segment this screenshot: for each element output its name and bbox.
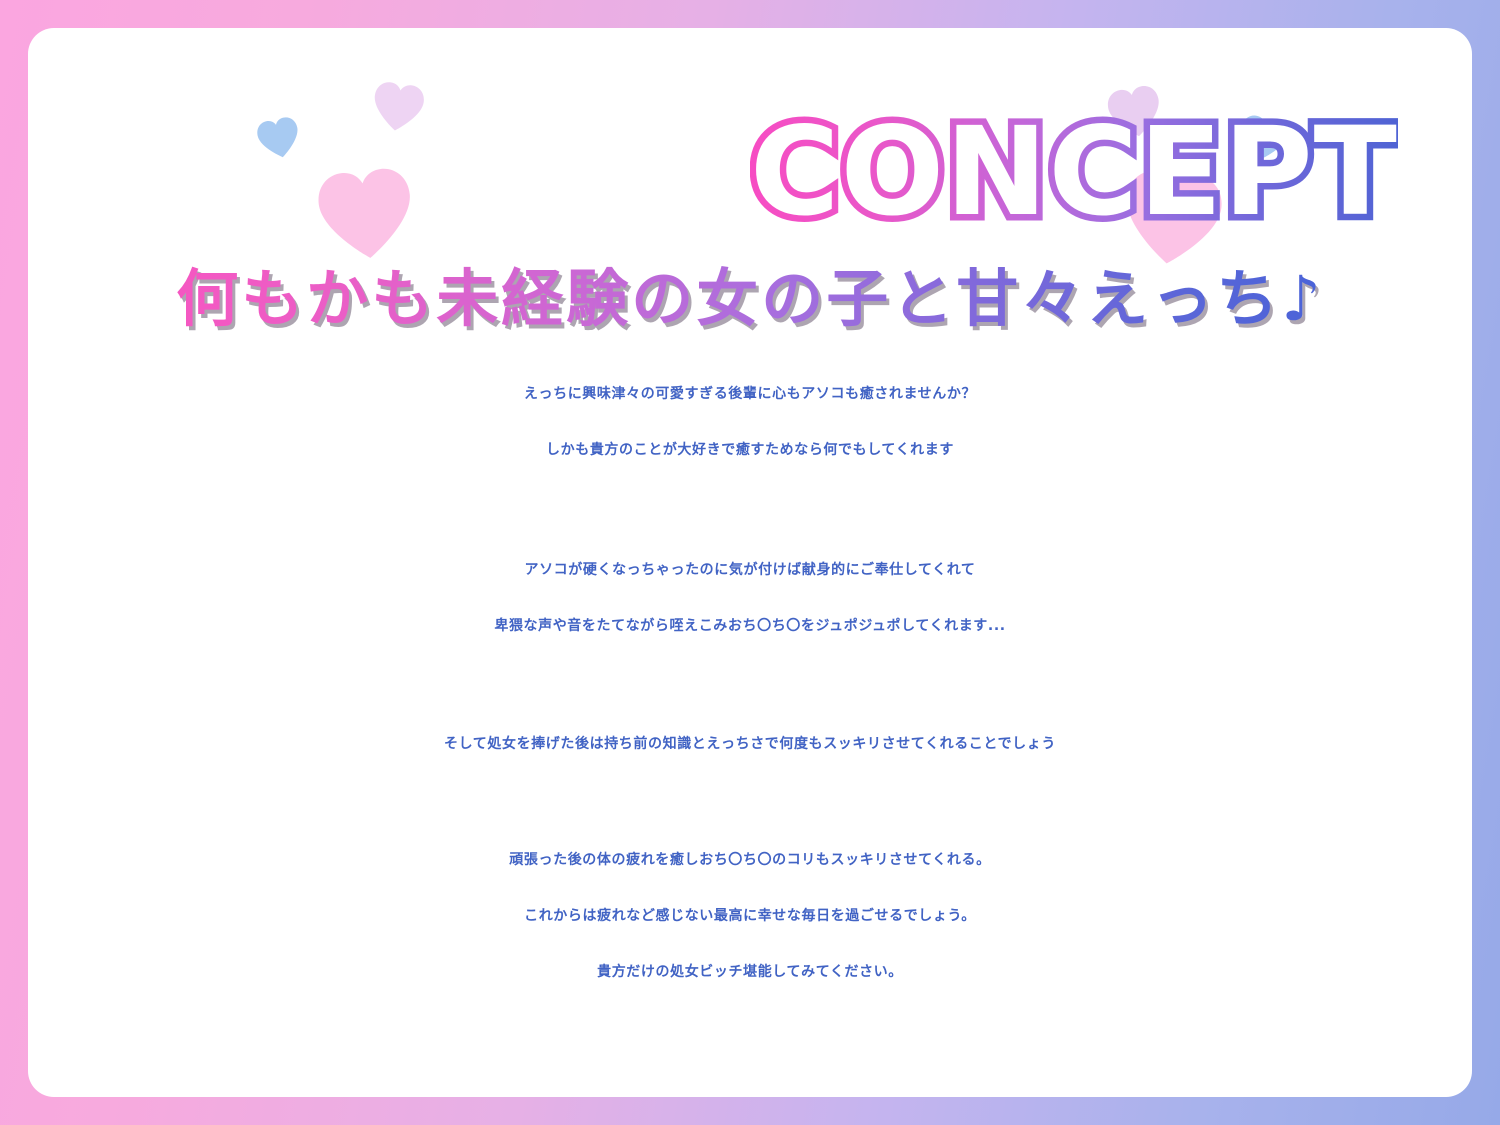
- paragraph-spacer: [28, 478, 1472, 542]
- paragraph-closing: 頑張った後の体の疲れを癒しおち〇ち〇のコリもスッキリさせてくれる。これからは疲れ…: [28, 832, 1472, 1000]
- text-line: 貴方だけの処女ビッチ堪能してみてください。: [28, 944, 1472, 1000]
- page-background: CONCEPT CONCEPT 何もかも未経験の女の子と甘々えっち♪ えっちに興…: [0, 0, 1500, 1125]
- paragraph-service: アソコが硬くなっちゃったのに気が付けば献身的にご奉仕してくれて卑猥な声や音をたて…: [28, 542, 1472, 654]
- paragraph-after: そして処女を捧げた後は持ち前の知識とえっちさで何度もスッキリさせてくれることでし…: [28, 716, 1472, 772]
- text-line: 卑猥な声や音をたてながら咥えこみおち〇ち〇をジュポジュポしてくれます...: [28, 598, 1472, 654]
- body-text-container: えっちに興味津々の可愛すぎる後輩に心もアソコも癒されませんか？しかも貴方のことが…: [28, 366, 1472, 1000]
- paragraph-spacer: [28, 772, 1472, 832]
- heart-lavender-left-icon: [366, 76, 429, 139]
- paragraph-intro: えっちに興味津々の可愛すぎる後輩に心もアソコも癒されませんか？しかも貴方のことが…: [28, 366, 1472, 478]
- page-title-fill: CONCEPT: [750, 106, 1398, 238]
- heart-blue-right-icon: [1231, 109, 1293, 171]
- text-line: アソコが硬くなっちゃったのに気が付けば献身的にご奉仕してくれて: [28, 542, 1472, 598]
- text-line: 頑張った後の体の疲れを癒しおち〇ち〇のコリもスッキリさせてくれる。: [28, 832, 1472, 888]
- page-subtitle: 何もかも未経験の女の子と甘々えっち♪: [176, 260, 1324, 338]
- paragraph-spacer: [28, 654, 1472, 716]
- text-line: そして処女を捧げた後は持ち前の知識とえっちさで何度もスッキリさせてくれることでし…: [28, 716, 1472, 772]
- heart-blue-left-icon: [252, 112, 307, 167]
- page-title-stroke: CONCEPT: [750, 101, 1398, 243]
- heart-pink-left-icon: [309, 159, 423, 273]
- heart-lavender-right-icon: [1101, 79, 1168, 146]
- page-subtitle-container: 何もかも未経験の女の子と甘々えっち♪: [28, 260, 1472, 338]
- content-card: CONCEPT CONCEPT 何もかも未経験の女の子と甘々えっち♪ えっちに興…: [28, 28, 1472, 1097]
- text-line: えっちに興味津々の可愛すぎる後輩に心もアソコも癒されませんか？: [28, 366, 1472, 422]
- text-line: しかも貴方のことが大好きで癒すためなら何でもしてくれます: [28, 422, 1472, 478]
- text-line: これからは疲れなど感じない最高に幸せな毎日を過ごせるでしょう。: [28, 888, 1472, 944]
